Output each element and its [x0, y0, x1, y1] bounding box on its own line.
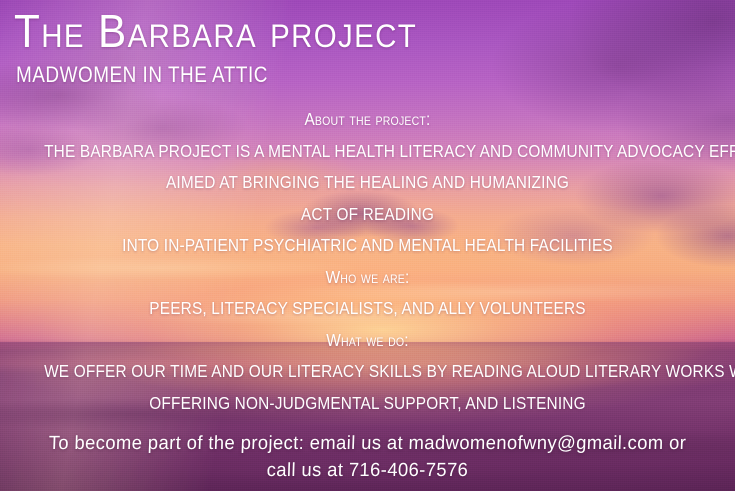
section-heading: What we do:	[44, 325, 691, 357]
body-text-line: We offer our time and our literacy skill…	[44, 356, 691, 388]
poster-content: The Barbara project MADWOMEN IN THE ATTI…	[0, 0, 735, 491]
body-text-line: offering non-judgmental support, and lis…	[44, 388, 691, 420]
body-text-line: into in-patient psychiatric and mental h…	[44, 230, 691, 262]
poster-title: The Barbara project	[14, 6, 417, 56]
section-heading: About the project:	[44, 104, 691, 136]
contact-text-line: call us at 716-406-7576	[11, 457, 725, 484]
poster-subtitle: MADWOMEN IN THE ATTIC	[16, 62, 268, 88]
contact-text-line: To become part of the project: email us …	[11, 430, 725, 457]
body-text-line: aimed at bringing the healing and humani…	[44, 167, 691, 199]
poster-body: About the project:The Barbara Project is…	[0, 104, 735, 419]
section-heading: Who we are:	[44, 262, 691, 294]
body-text-line: act of reading	[44, 199, 691, 231]
body-text-line: Peers, literacy specialists, and ally vo…	[44, 293, 691, 325]
poster-canvas: The Barbara project MADWOMEN IN THE ATTI…	[0, 0, 735, 491]
poster-contact: To become part of the project: email us …	[0, 430, 735, 484]
body-text-line: The Barbara Project is a mental health l…	[44, 136, 691, 168]
